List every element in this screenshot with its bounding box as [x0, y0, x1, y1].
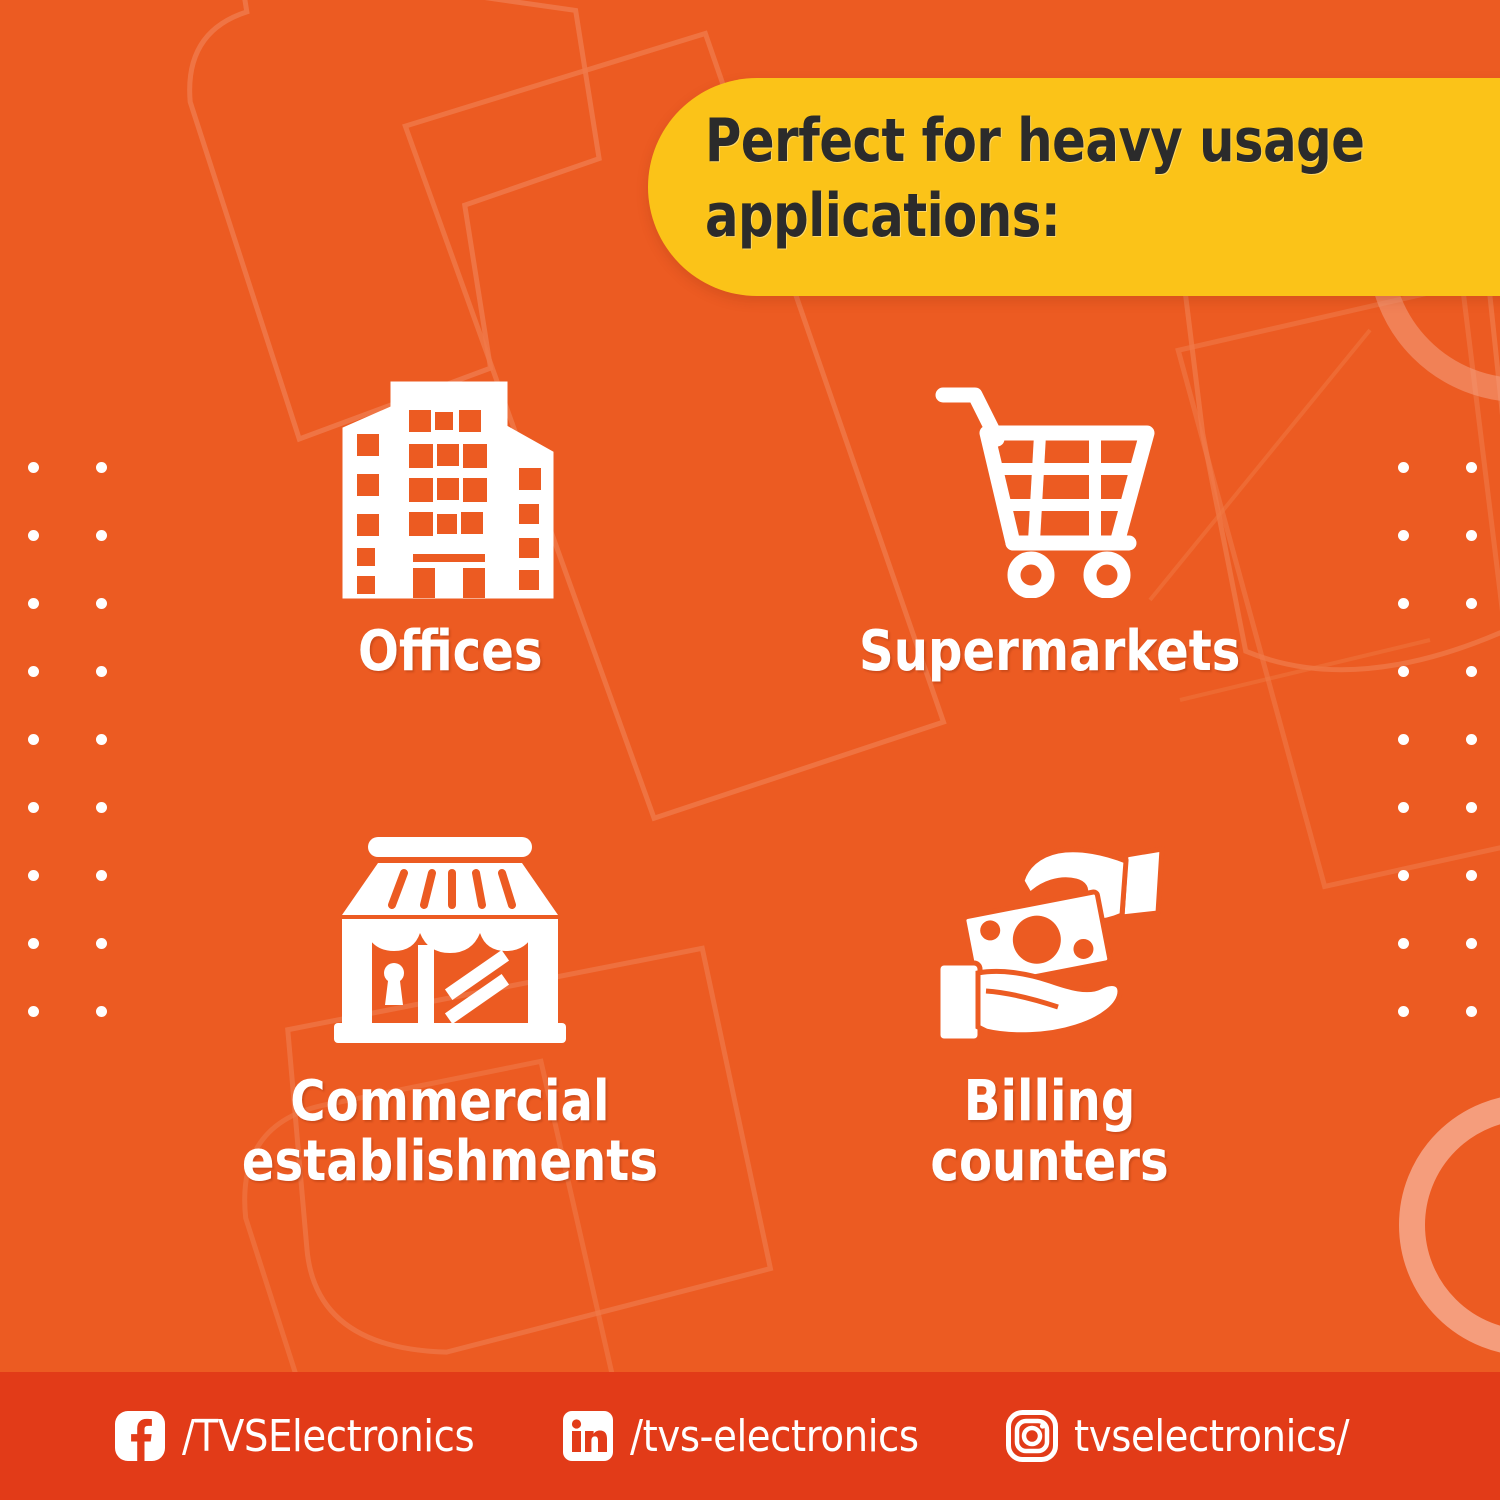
- decor-dot: [1466, 598, 1477, 609]
- decor-dot: [96, 734, 107, 745]
- office-building-icon: [335, 370, 565, 610]
- feature-label-commercial: Commercial establishments: [242, 1072, 658, 1193]
- feature-label-offices: Offices: [358, 622, 543, 682]
- feature-item-commercial: Commercial establishments: [150, 820, 750, 1270]
- feature-item-billing: Billing counters: [750, 820, 1350, 1270]
- decor-dot: [1466, 802, 1477, 813]
- decor-dot: [96, 598, 107, 609]
- heading-banner: Perfect for heavy usage applications:: [648, 78, 1500, 296]
- decor-dot: [28, 938, 39, 949]
- heading-banner-inner: Perfect for heavy usage applications:: [705, 104, 1485, 254]
- facebook-icon[interactable]: [114, 1410, 166, 1462]
- instagram-handle[interactable]: tvselectronics/: [1074, 1411, 1349, 1462]
- money-in-hands-icon: [930, 820, 1170, 1060]
- decor-dot: [1398, 938, 1409, 949]
- decor-dot: [96, 666, 107, 677]
- decor-dot: [1466, 734, 1477, 745]
- footer-social-bar: /TVSElectronics /tvs-electronics tvselec…: [0, 1372, 1500, 1500]
- decor-dot: [28, 598, 39, 609]
- decor-dot: [28, 1006, 39, 1017]
- decor-dot: [1398, 530, 1409, 541]
- decor-dot: [96, 530, 107, 541]
- decor-dot: [96, 462, 107, 473]
- feature-item-supermarkets: Supermarkets: [750, 370, 1350, 820]
- social-facebook[interactable]: /TVSElectronics: [114, 1410, 514, 1462]
- decor-dot: [1466, 938, 1477, 949]
- linkedin-handle[interactable]: /tvs-electronics: [630, 1411, 919, 1462]
- decor-dot: [1466, 530, 1477, 541]
- decor-dot: [1398, 734, 1409, 745]
- social-linkedin[interactable]: /tvs-electronics: [562, 1410, 958, 1462]
- decor-dot: [28, 870, 39, 881]
- decor-dot: [28, 462, 39, 473]
- decor-dot: [96, 870, 107, 881]
- decor-dot: [1466, 666, 1477, 677]
- decor-dot: [1398, 598, 1409, 609]
- page-title: Perfect for heavy usage applications:: [705, 104, 1423, 254]
- decor-dot: [28, 734, 39, 745]
- decor-dot: [1398, 462, 1409, 473]
- shopping-cart-icon: [935, 370, 1165, 610]
- decor-dot: [1398, 666, 1409, 677]
- decor-dot: [1398, 870, 1409, 881]
- decor-dot: [96, 938, 107, 949]
- decor-dot: [1466, 870, 1477, 881]
- facebook-handle[interactable]: /TVSElectronics: [182, 1411, 474, 1462]
- decor-dot: [1466, 462, 1477, 473]
- decor-dot: [28, 666, 39, 677]
- decor-dot: [28, 802, 39, 813]
- feature-label-billing: Billing counters: [931, 1072, 1169, 1193]
- social-instagram[interactable]: tvselectronics/: [1006, 1410, 1387, 1462]
- feature-grid: Offices: [150, 370, 1350, 1270]
- decor-dot: [28, 530, 39, 541]
- decor-dot: [96, 1006, 107, 1017]
- decor-dot: [1398, 1006, 1409, 1017]
- feature-item-offices: Offices: [150, 370, 750, 820]
- feature-label-supermarkets: Supermarkets: [859, 622, 1240, 682]
- decor-dot: [1466, 1006, 1477, 1017]
- linkedin-icon[interactable]: [562, 1410, 614, 1462]
- decor-dot: [96, 802, 107, 813]
- decor-dot: [1398, 802, 1409, 813]
- instagram-icon[interactable]: [1006, 1410, 1058, 1462]
- promo-canvas: Perfect for heavy usage applications:: [0, 0, 1500, 1500]
- storefront-icon: [330, 820, 570, 1060]
